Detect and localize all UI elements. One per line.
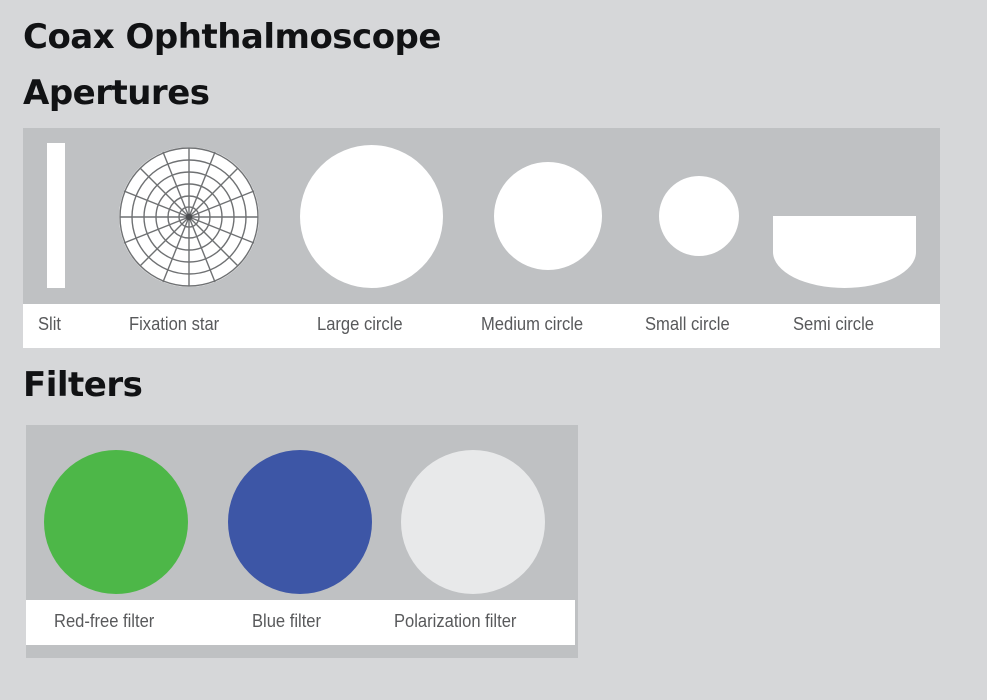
aperture-label-semi-circle: Semi circle bbox=[793, 314, 874, 335]
filters-figure-row bbox=[26, 425, 578, 600]
filters-section-heading: Filters bbox=[23, 368, 142, 402]
aperture-label-slit: Slit bbox=[38, 314, 61, 335]
aperture-shape-small-circle bbox=[659, 176, 739, 256]
aperture-label-small-circle: Small circle bbox=[645, 314, 730, 335]
filter-disc-polarization bbox=[401, 450, 545, 594]
fixation-star-icon bbox=[118, 146, 260, 288]
apertures-label-row: Slit Fixation star Large circle Medium c… bbox=[23, 304, 940, 348]
aperture-shape-medium-circle bbox=[494, 162, 602, 270]
aperture-shape-fixation-star bbox=[118, 146, 260, 288]
filters-label-row: Red-free filter Blue filter Polarization… bbox=[26, 600, 575, 645]
aperture-shape-large-circle bbox=[300, 145, 443, 288]
aperture-label-large-circle: Large circle bbox=[317, 314, 403, 335]
filter-label-polarization: Polarization filter bbox=[394, 611, 516, 632]
aperture-label-medium-circle: Medium circle bbox=[481, 314, 583, 335]
aperture-shape-semi-circle bbox=[773, 216, 916, 288]
aperture-shape-slit bbox=[47, 143, 65, 288]
page-title-line-1: Coax Ophthalmoscope bbox=[23, 20, 441, 54]
filter-disc-red-free bbox=[44, 450, 188, 594]
filter-label-red-free: Red-free filter bbox=[54, 611, 154, 632]
filter-label-blue: Blue filter bbox=[252, 611, 321, 632]
filter-disc-blue bbox=[228, 450, 372, 594]
aperture-label-fixation-star: Fixation star bbox=[129, 314, 219, 335]
page-title-line-2: Apertures bbox=[23, 76, 210, 110]
apertures-figure-row bbox=[23, 128, 940, 304]
